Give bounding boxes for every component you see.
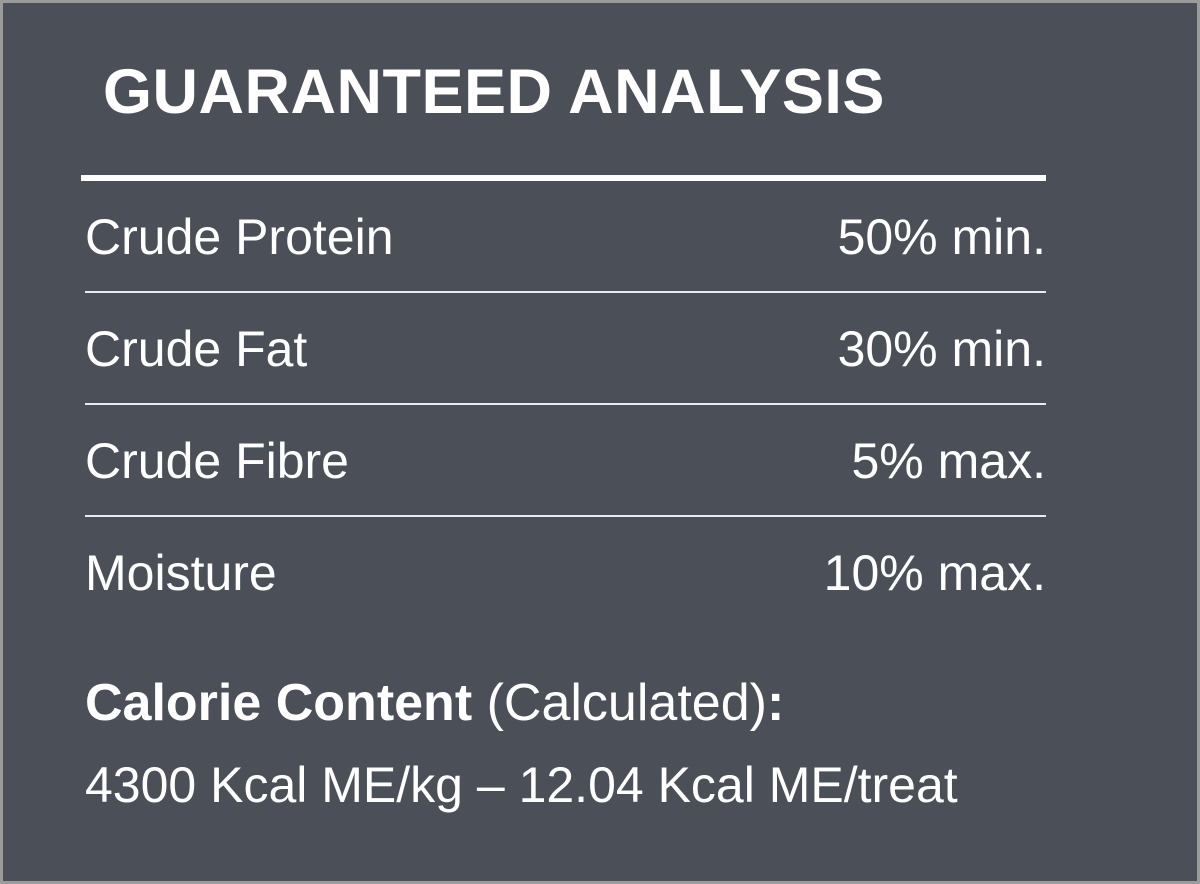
calorie-content-heading: Calorie Content (Calculated): [85, 675, 1175, 731]
table-row: Crude Protein 50% min. [81, 181, 1046, 293]
nutrient-value: 30% min. [838, 324, 1046, 374]
nutrient-value: 10% max. [824, 548, 1046, 598]
nutrient-label: Crude Protein [81, 212, 394, 262]
calorie-content-heading-colon: : [767, 674, 784, 732]
nutrient-label: Moisture [81, 548, 277, 598]
page-title: GUARANTEED ANALYSIS [103, 61, 885, 124]
table-row: Moisture 10% max. [81, 517, 1046, 629]
nutrient-label: Crude Fibre [81, 436, 349, 486]
analysis-table: Crude Protein 50% min. Crude Fat 30% min… [81, 181, 1046, 629]
calorie-content-section: Calorie Content (Calculated): 4300 Kcal … [85, 675, 1175, 812]
calorie-content-heading-normal: (Calculated) [472, 674, 767, 732]
calorie-content-heading-strong: Calorie Content [85, 674, 472, 732]
nutrient-label: Crude Fat [81, 324, 307, 374]
table-row: Crude Fibre 5% max. [81, 405, 1046, 517]
calorie-content-value: 4300 Kcal ME/kg – 12.04 Kcal ME/treat [85, 758, 1175, 812]
table-row: Crude Fat 30% min. [81, 293, 1046, 405]
panel-content: GUARANTEED ANALYSIS Crude Protein 50% mi… [81, 3, 1161, 881]
nutrient-value: 5% max. [851, 436, 1046, 486]
guaranteed-analysis-panel: GUARANTEED ANALYSIS Crude Protein 50% mi… [3, 3, 1197, 881]
nutrient-value: 50% min. [838, 212, 1046, 262]
